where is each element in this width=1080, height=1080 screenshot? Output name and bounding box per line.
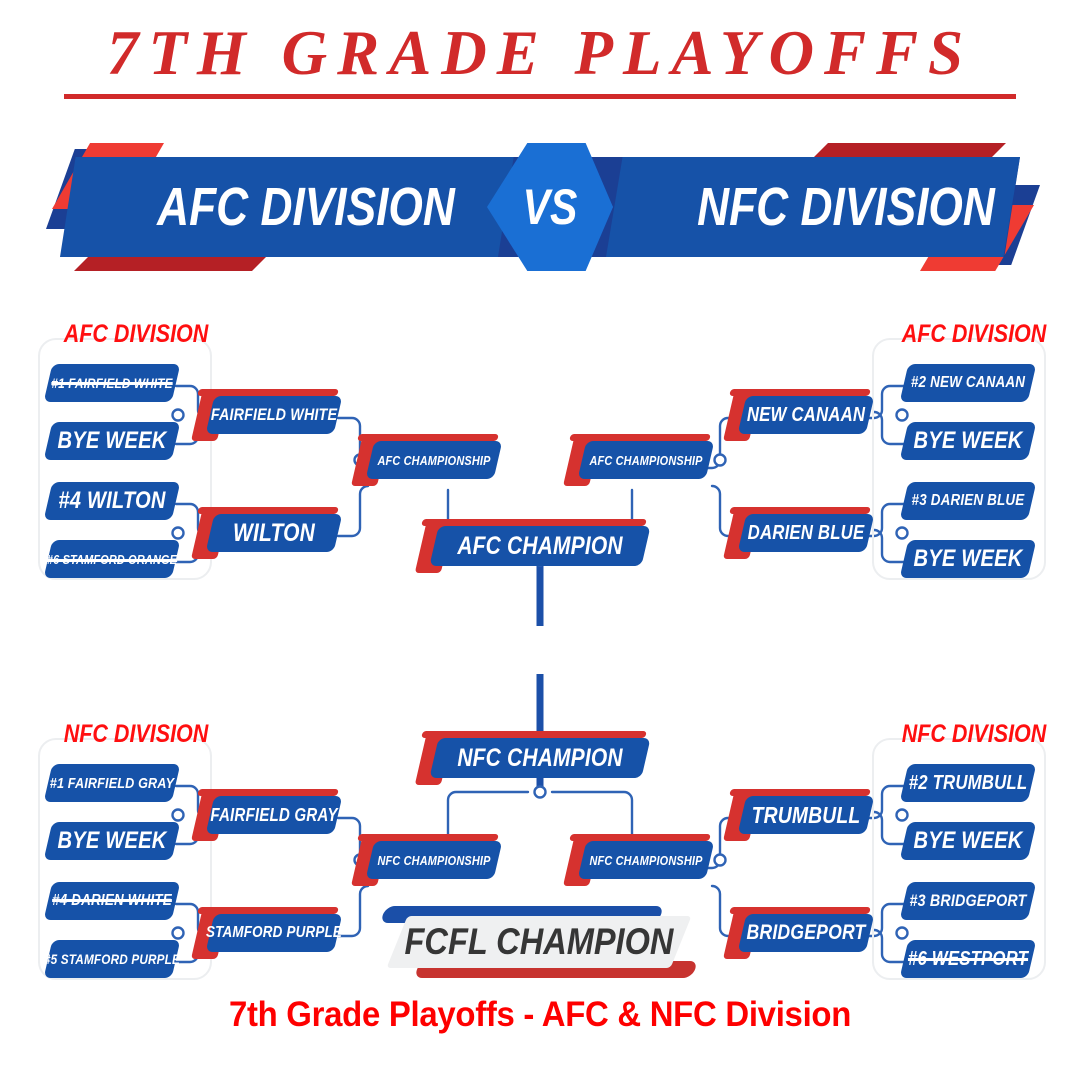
box-red-accent-top	[357, 834, 499, 841]
bracket-seed-label: #1 FAIRFIELD WHITE	[58, 364, 166, 402]
bracket-seed-box[interactable]: #1 FAIRFIELD WHITE	[48, 364, 176, 402]
page-title: 7TH GRADE PLAYOFFS	[0, 22, 1080, 99]
bracket-winner-label: FAIRFIELD WHITE	[220, 396, 328, 434]
box-red-accent-top	[729, 907, 871, 914]
box-red-accent-top	[729, 389, 871, 396]
banner-right-label: NFC DIVISION	[682, 157, 1010, 257]
bracket-seed-label: BYE WEEK	[914, 822, 1022, 860]
box-red-accent-top	[197, 507, 339, 514]
bracket-semifinal-box[interactable]: NFC CHAMPIONSHIP	[370, 841, 498, 879]
bracket-winner-label: WILTON	[220, 514, 328, 552]
bracket-seed-box[interactable]: #3 BRIDGEPORT	[904, 882, 1032, 920]
box-red-accent-top	[421, 731, 647, 738]
bracket-semifinal-box[interactable]: AFC CHAMPIONSHIP	[582, 441, 710, 479]
bracket-semifinal-label: AFC CHAMPIONSHIP	[592, 441, 700, 479]
bracket-seed-label: BYE WEEK	[58, 422, 166, 460]
box-red-accent-top	[197, 389, 339, 396]
bracket-seed-box[interactable]: #2 NEW CANAAN	[904, 364, 1032, 402]
box-red-accent-top	[357, 434, 499, 441]
bracket-seed-label: #2 TRUMBULL	[914, 764, 1022, 802]
bracket-seed-box[interactable]: BYE WEEK	[48, 422, 176, 460]
bracket-seed-label: BYE WEEK	[914, 540, 1022, 578]
bracket-winner-label: DARIEN BLUE	[752, 514, 860, 552]
bracket-seed-box[interactable]: #4 DARIEN WHITE	[48, 882, 176, 920]
bracket-conference-champion-label: NFC CHAMPION	[451, 738, 629, 778]
bracket-winner-box[interactable]: FAIRFIELD WHITE	[210, 396, 338, 434]
bracket-seed-box[interactable]: BYE WEEK	[48, 822, 176, 860]
bracket-seed-box[interactable]: #4 WILTON	[48, 482, 176, 520]
bracket-seed-label: #5 STAMFORD PURPLE	[58, 940, 166, 978]
bracket-seed-label: #3 DARIEN BLUE	[914, 482, 1022, 520]
banner-vs-label: VS	[498, 143, 601, 271]
panel-nfc-bottom-left-label: NFC DIVISION	[64, 720, 209, 749]
bracket-seed-box[interactable]: #6 WESTPORT	[904, 940, 1032, 978]
bracket-semifinal-box[interactable]: AFC CHAMPIONSHIP	[370, 441, 498, 479]
title-underline	[64, 94, 1016, 99]
bracket-winner-box[interactable]: DARIEN BLUE	[742, 514, 870, 552]
box-red-accent-top	[729, 507, 871, 514]
box-red-accent-top	[569, 834, 711, 841]
bracket-conference-champion-box[interactable]: NFC CHAMPION	[434, 738, 646, 778]
bracket-seed-label: #3 BRIDGEPORT	[914, 882, 1022, 920]
bracket-winner-box[interactable]: FAIRFIELD GRAY	[210, 796, 338, 834]
bracket-seed-label: #6 WESTPORT	[914, 940, 1022, 978]
bracket-seed-label: #1 FAIRFIELD GRAY	[58, 764, 166, 802]
bracket-seed-box[interactable]: #6 STAMFORD ORANGE	[48, 540, 176, 578]
bracket-conference-champion-box[interactable]: AFC CHAMPION	[434, 526, 646, 566]
bracket-winner-label: FAIRFIELD GRAY	[220, 796, 328, 834]
bracket-seed-box[interactable]: #5 STAMFORD PURPLE	[48, 940, 176, 978]
bracket-winner-box[interactable]: STAMFORD PURPLE	[210, 914, 338, 952]
bracket-seed-box[interactable]: BYE WEEK	[904, 540, 1032, 578]
bracket-seed-label: BYE WEEK	[58, 822, 166, 860]
bracket-seed-box[interactable]: BYE WEEK	[904, 422, 1032, 460]
bracket-seed-box[interactable]: #2 TRUMBULL	[904, 764, 1032, 802]
box-red-accent-top	[197, 789, 339, 796]
bracket-winner-box[interactable]: WILTON	[210, 514, 338, 552]
box-red-accent-top	[729, 789, 871, 796]
bracket-winner-box[interactable]: BRIDGEPORT	[742, 914, 870, 952]
bracket-winner-label: BRIDGEPORT	[752, 914, 860, 952]
bracket-semifinal-label: AFC CHAMPIONSHIP	[380, 441, 488, 479]
bracket-overall-champion-label: FCFL CHAMPION	[402, 916, 677, 968]
banner-left-label: AFC DIVISION	[142, 157, 470, 257]
bracket-seed-box[interactable]: #3 DARIEN BLUE	[904, 482, 1032, 520]
bracket-semifinal-label: NFC CHAMPIONSHIP	[380, 841, 488, 879]
panel-nfc-bottom-right-label: NFC DIVISION	[902, 720, 1047, 749]
panel-afc-top-right-label: AFC DIVISION	[902, 320, 1047, 349]
bracket-winner-label: NEW CANAAN	[752, 396, 860, 434]
bracket-semifinal-label: NFC CHAMPIONSHIP	[592, 841, 700, 879]
bracket-overall-champion-box[interactable]: FCFL CHAMPION	[383, 906, 695, 978]
bracket-seed-label: BYE WEEK	[914, 422, 1022, 460]
division-banner: AFC DIVISION VS NFC DIVISION	[46, 143, 1034, 271]
bracket-conference-champion-label: AFC CHAMPION	[451, 526, 629, 566]
bracket-seed-label: #6 STAMFORD ORANGE	[58, 540, 166, 578]
bracket-winner-label: TRUMBULL	[752, 796, 860, 834]
footer-caption: 7th Grade Playoffs - AFC & NFC Division	[32, 995, 1047, 1035]
panel-afc-top-left-label: AFC DIVISION	[64, 320, 209, 349]
bracket-winner-label: STAMFORD PURPLE	[220, 914, 328, 952]
bracket-seed-label: #4 DARIEN WHITE	[58, 882, 166, 920]
bracket-winner-box[interactable]: TRUMBULL	[742, 796, 870, 834]
bracket-seed-label: #4 WILTON	[58, 482, 166, 520]
page-title-text: 7TH GRADE PLAYOFFS	[0, 22, 1080, 85]
box-red-accent-top	[197, 907, 339, 914]
bracket-seed-box[interactable]: BYE WEEK	[904, 822, 1032, 860]
box-red-accent-top	[569, 434, 711, 441]
bracket-semifinal-box[interactable]: NFC CHAMPIONSHIP	[582, 841, 710, 879]
bracket-seed-label: #2 NEW CANAAN	[914, 364, 1022, 402]
bracket-seed-box[interactable]: #1 FAIRFIELD GRAY	[48, 764, 176, 802]
box-red-accent-top	[421, 519, 647, 526]
playoff-bracket: AFC DIVISION #1 FAIRFIELD WHITE BYE WEEK…	[0, 300, 1080, 980]
bracket-winner-box[interactable]: NEW CANAAN	[742, 396, 870, 434]
